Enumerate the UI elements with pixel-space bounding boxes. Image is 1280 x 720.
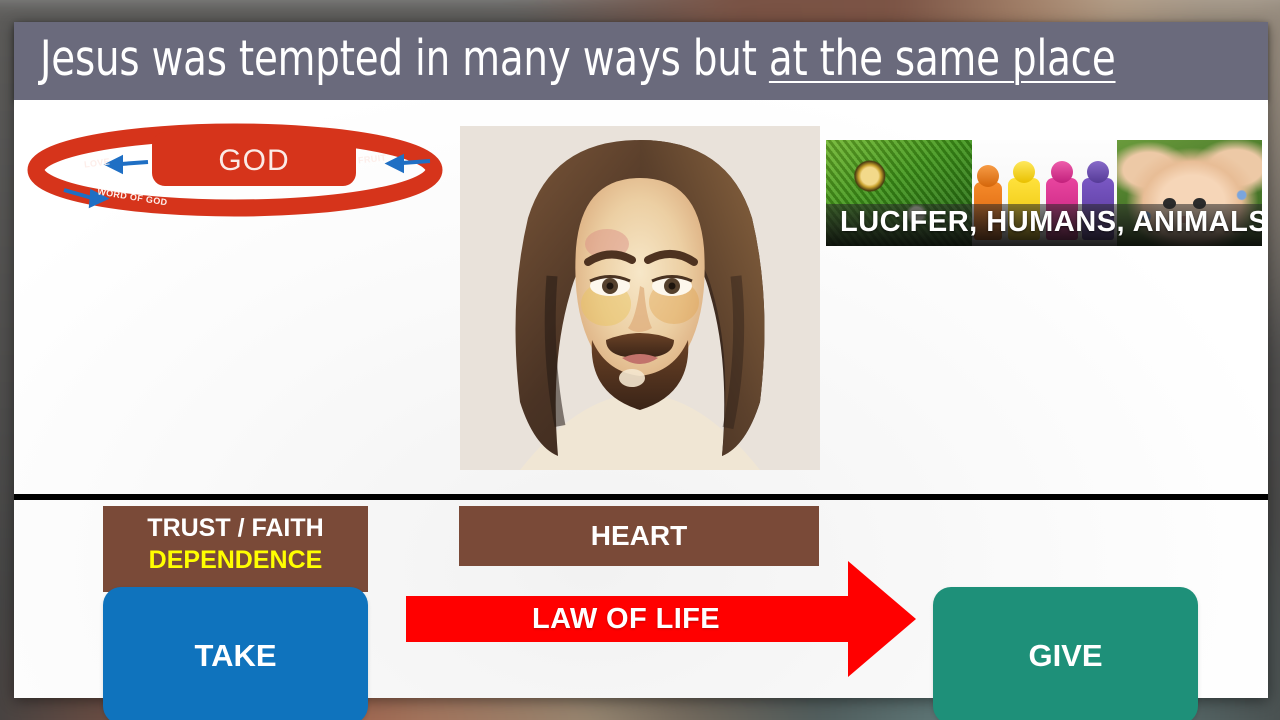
- give-label: GIVE: [1028, 638, 1102, 674]
- triptych-caption-bar: LUCIFER, HUMANS, ANIMALS: [826, 204, 1262, 246]
- slide-body: GOD LOVE FRUIT WORD OF GOD: [14, 100, 1268, 698]
- take-button[interactable]: TAKE: [103, 587, 368, 720]
- section-divider: [14, 494, 1268, 500]
- heart-label: HEART: [459, 506, 819, 566]
- give-button[interactable]: GIVE: [933, 587, 1198, 720]
- jesus-portrait-image: [460, 126, 820, 470]
- slide-header-bar: Jesus was tempted in many ways but at th…: [14, 22, 1268, 100]
- title-underlined-text: at the same place: [769, 30, 1116, 87]
- presentation-slide: Jesus was tempted in many ways but at th…: [14, 22, 1268, 698]
- heart-box: HEART: [459, 506, 819, 566]
- lucifer-humans-animals-image: LUCIFER, HUMANS, ANIMALS: [826, 140, 1262, 246]
- take-label: TAKE: [194, 638, 276, 674]
- slide-viewer: Jesus was tempted in many ways but at th…: [0, 0, 1280, 720]
- title-plain-text: Jesus was tempted in many ways but: [40, 30, 769, 87]
- trust-faith-label: TRUST / FAITH: [103, 512, 368, 544]
- law-of-life-label: LAW OF LIFE: [406, 603, 846, 636]
- triptych-caption: LUCIFER, HUMANS, ANIMALS: [840, 206, 1262, 239]
- trust-faith-dependence-box: TRUST / FAITH DEPENDENCE: [103, 506, 368, 592]
- law-of-life-arrow: LAW OF LIFE: [406, 561, 916, 678]
- page-title: Jesus was tempted in many ways but at th…: [40, 20, 1116, 98]
- god-center-label: GOD: [152, 144, 356, 178]
- god-cycle-diagram: GOD LOVE FRUIT WORD OF GOD: [26, 118, 444, 218]
- dependence-label: DEPENDENCE: [103, 544, 368, 576]
